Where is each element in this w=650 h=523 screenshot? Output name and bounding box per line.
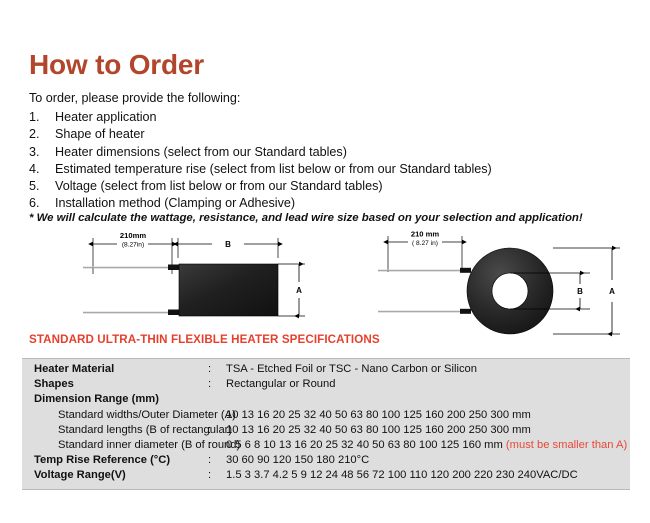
table-row: Standard inner diameter (B of round) : 0…: [22, 439, 630, 454]
rect-lead-length-mm: 210mm: [120, 231, 146, 240]
spec-section-header: STANDARD ULTRA-THIN FLEXIBLE HEATER SPEC…: [29, 333, 380, 346]
spec-colon: :: [208, 378, 226, 390]
spec-label: Temp Rise Reference (°C): [22, 454, 208, 466]
order-step-label: Heater application: [55, 109, 629, 126]
heater-diagrams: 210mm (8.27in) B A: [0, 226, 650, 338]
spec-colon: :: [208, 469, 226, 481]
spec-label: Heater Material: [22, 363, 208, 375]
order-step: 3. Heater dimensions (select from our St…: [29, 144, 629, 161]
spec-value-text: 10 13 16 20 25 32 40 50 63 80 100 125 16…: [226, 424, 531, 436]
spec-value: 30 60 90 120 150 180 210°C: [226, 454, 630, 466]
spec-value-text: TSA - Etched Foil or TSC - Nano Carbon o…: [226, 363, 477, 375]
order-step-label: Heater dimensions (select from our Stand…: [55, 144, 629, 161]
order-step-label: Voltage (select from list below or from …: [55, 178, 629, 195]
table-row: Shapes : Rectangular or Round: [22, 378, 630, 393]
spec-value-text: 30 60 90 120 150 180 210°C: [226, 454, 369, 466]
rect-dim-b-label: B: [225, 240, 231, 249]
spec-value: 0 5 6 8 10 13 16 20 25 32 40 50 63 80 10…: [226, 439, 630, 451]
order-step: 5. Voltage (select from list below or fr…: [29, 178, 629, 195]
round-lead-length-mm: 210 mm: [411, 230, 440, 239]
spec-value-text: 10 13 16 20 25 32 40 50 63 80 100 125 16…: [226, 409, 531, 421]
spec-colon: :: [208, 363, 226, 375]
order-step: 6. Installation method (Clamping or Adhe…: [29, 195, 629, 212]
spec-value-note: (must be smaller than A): [506, 439, 627, 451]
table-row: Voltage Range(V) : 1.5 3 3.7 4.2 5 9 12 …: [22, 469, 630, 484]
order-step-number: 3.: [29, 144, 55, 161]
order-step-number: 4.: [29, 161, 55, 178]
footnote-text: * We will calculate the wattage, resista…: [29, 212, 583, 224]
order-step-label: Estimated temperature rise (select from …: [55, 161, 629, 178]
round-heater-diagram: 210 mm ( 8.27 in) B A: [378, 230, 620, 335]
rect-dim-a-label: A: [296, 286, 302, 295]
spec-colon: :: [208, 424, 226, 436]
spec-label: Standard inner diameter (B of round): [22, 439, 208, 451]
round-dim-b-label: B: [577, 287, 583, 296]
round-heater-hole: [492, 273, 528, 309]
spec-colon: :: [208, 454, 226, 466]
spec-label: Shapes: [22, 378, 208, 390]
spec-value: 10 13 16 20 25 32 40 50 63 80 100 125 16…: [226, 424, 630, 436]
order-step-number: 5.: [29, 178, 55, 195]
table-row: Standard lengths (B of rectangular) : 10…: [22, 424, 630, 439]
spec-table: Heater Material : TSA - Etched Foil or T…: [22, 358, 630, 490]
order-step: 4. Estimated temperature rise (select fr…: [29, 161, 629, 178]
spec-value: 10 13 16 20 25 32 40 50 63 80 100 125 16…: [226, 409, 630, 421]
spec-label: Standard lengths (B of rectangular): [22, 424, 208, 436]
spec-label: Standard widths/Outer Diameter (A): [22, 409, 208, 421]
spec-value: Rectangular or Round: [226, 378, 630, 390]
spec-value: 1.5 3 3.7 4.2 5 9 12 24 48 56 72 100 110…: [226, 469, 630, 481]
spec-label: Voltage Range(V): [22, 469, 208, 481]
round-dim-a-label: A: [609, 287, 615, 296]
table-row: Temp Rise Reference (°C) : 30 60 90 120 …: [22, 454, 630, 469]
order-step-label: Installation method (Clamping or Adhesiv…: [55, 195, 629, 212]
page-title: How to Order: [29, 51, 204, 79]
spec-value-text: 1.5 3 3.7 4.2 5 9 12 24 48 56 72 100 110…: [226, 469, 578, 481]
rectangular-heater-diagram: 210mm (8.27in) B A: [83, 231, 305, 316]
order-step-number: 1.: [29, 109, 55, 126]
table-row: Heater Material : TSA - Etched Foil or T…: [22, 363, 630, 378]
diagram-svg: 210mm (8.27in) B A: [0, 226, 650, 338]
order-step: 2. Shape of heater: [29, 126, 629, 143]
order-steps-list: 1. Heater application 2. Shape of heater…: [29, 109, 629, 213]
spec-value-text: 0 5 6 8 10 13 16 20 25 32 40 50 63 80 10…: [226, 439, 506, 451]
spec-label: Dimension Range (mm): [22, 393, 208, 405]
intro-text: To order, please provide the following:: [29, 92, 240, 105]
table-row: Standard widths/Outer Diameter (A) : 10 …: [22, 409, 630, 424]
spec-value: TSA - Etched Foil or TSC - Nano Carbon o…: [226, 363, 630, 375]
rect-lead-length-in: (8.27in): [122, 242, 144, 249]
spec-colon: :: [208, 409, 226, 421]
spec-colon: :: [208, 439, 226, 451]
table-row: Dimension Range (mm): [22, 393, 630, 408]
order-step-number: 6.: [29, 195, 55, 212]
round-lead-length-in: ( 8.27 in): [412, 240, 438, 247]
order-step: 1. Heater application: [29, 109, 629, 126]
order-step-label: Shape of heater: [55, 126, 629, 143]
spec-value-text: Rectangular or Round: [226, 378, 335, 390]
order-step-number: 2.: [29, 126, 55, 143]
